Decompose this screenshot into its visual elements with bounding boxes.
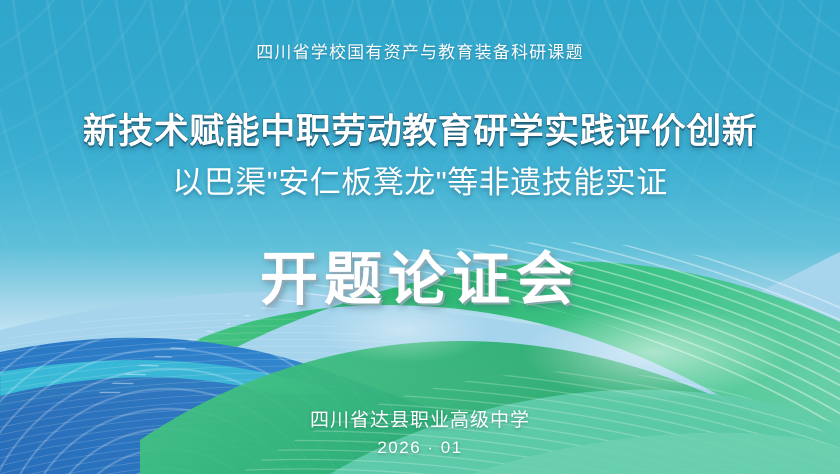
poster-title-secondary: 以巴渠"安仁板凳龙"等非遗技能实证 <box>0 157 840 202</box>
poster-content: 四川省学校国有资产与教育装备科研课题 新技术赋能中职劳动教育研学实践评价创新 以… <box>0 0 840 474</box>
event-name-heading: 开题论证会 <box>0 232 840 316</box>
event-date: 2026 · 01 <box>0 438 840 458</box>
poster-title-primary: 新技术赋能中职劳动教育研学实践评价创新 <box>0 103 840 154</box>
poster-footer: 四川省达县职业高级中学 2026 · 01 <box>0 405 840 458</box>
project-category-label: 四川省学校国有资产与教育装备科研课题 <box>0 38 840 63</box>
organization-name: 四川省达县职业高级中学 <box>0 405 840 432</box>
conference-poster: 四川省学校国有资产与教育装备科研课题 新技术赋能中职劳动教育研学实践评价创新 以… <box>0 0 840 474</box>
